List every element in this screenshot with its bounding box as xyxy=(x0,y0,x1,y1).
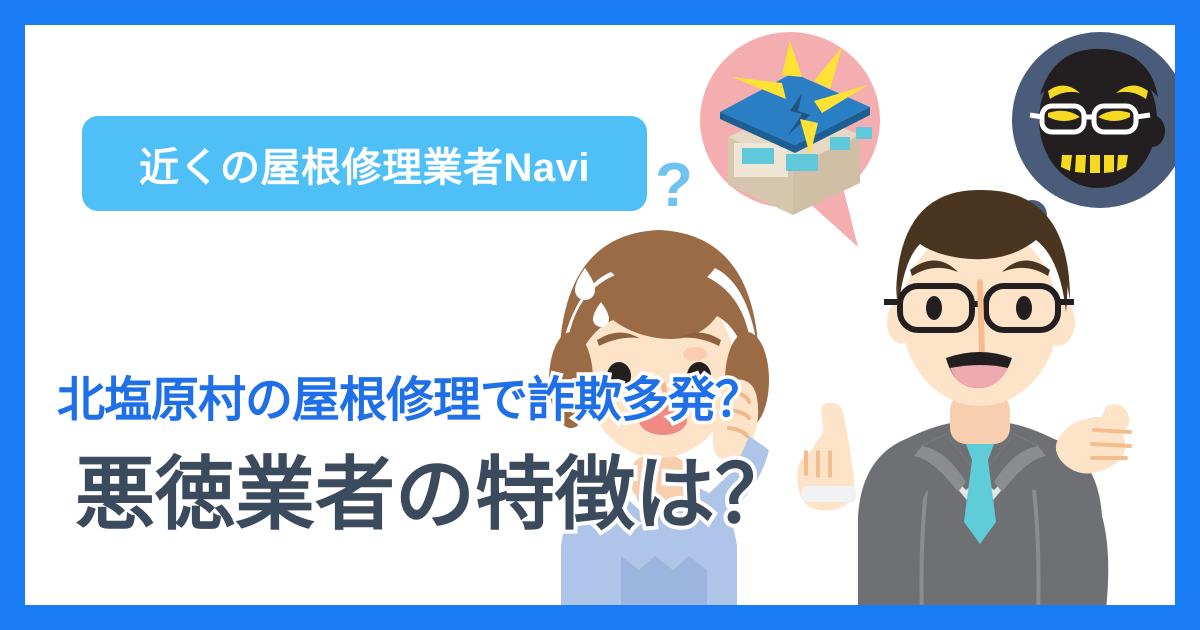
thumbnail-canvas: 近くの屋根修理業者Navi ? 北塩原村の屋根修理で詐欺多発？ 悪徳業者の特徴は… xyxy=(25,25,1175,605)
site-name-label: 近くの屋根修理業者Navi xyxy=(139,135,590,193)
man-eye-right xyxy=(1016,296,1032,320)
woman-eye-right xyxy=(687,362,711,390)
man-face xyxy=(884,190,1075,406)
woman-neck xyxy=(631,456,687,500)
woman-eye-left xyxy=(607,362,631,390)
man-eye-left xyxy=(926,296,942,320)
worried-woman xyxy=(535,220,795,605)
site-name-badge[interactable]: 近くの屋根修理業者Navi xyxy=(82,116,647,211)
question-mark-icon: ? xyxy=(655,155,693,217)
woman-mouth xyxy=(639,405,687,435)
index-finger xyxy=(821,403,850,455)
explaining-man xyxy=(800,190,1175,605)
thumbnail-frame: 近くの屋根修理業者Navi ? 北塩原村の屋根修理で詐欺多発？ 悪徳業者の特徴は… xyxy=(0,0,1200,630)
